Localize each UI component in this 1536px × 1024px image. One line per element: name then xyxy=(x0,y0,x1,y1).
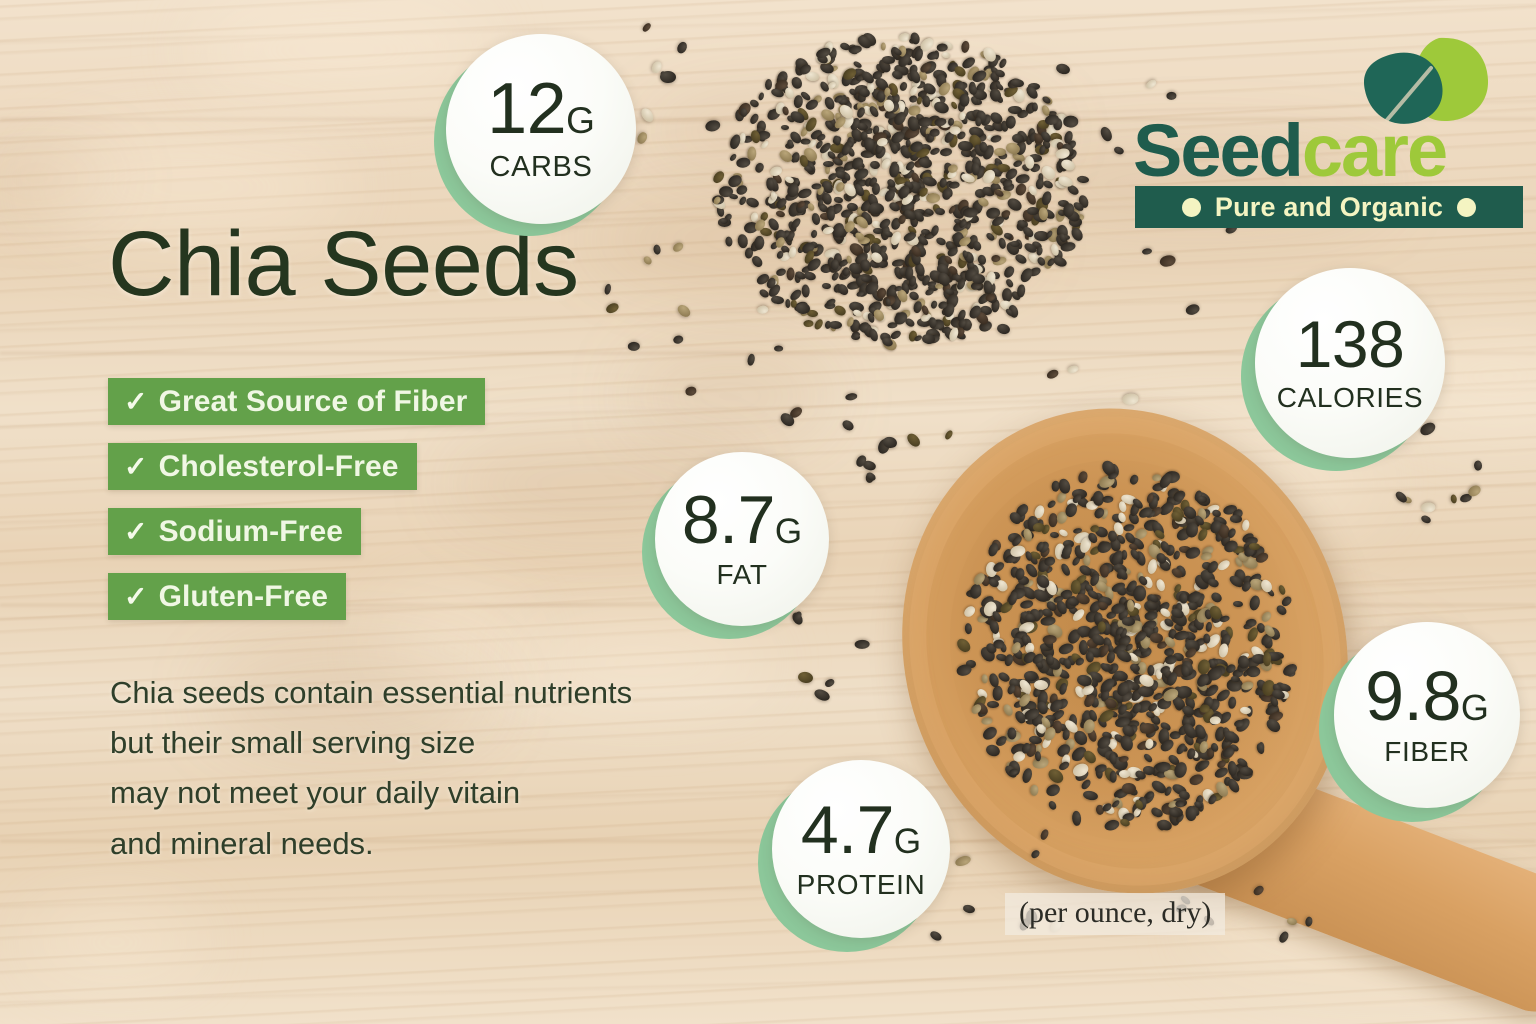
badge-label: FIBER xyxy=(1384,736,1469,768)
body-paragraph: Chia seeds contain essential nutrients b… xyxy=(110,668,810,869)
chia-seed xyxy=(1175,799,1184,806)
badge-unit: G xyxy=(775,515,802,549)
chia-seed xyxy=(725,236,733,247)
badge-value-wrap: 138 xyxy=(1296,312,1405,377)
chia-seed xyxy=(972,274,985,284)
chia-seed xyxy=(784,299,790,308)
chia-seed xyxy=(1262,652,1271,666)
chia-seed xyxy=(959,93,970,106)
badge-disc: 12GCARBS xyxy=(446,34,636,224)
chia-seed xyxy=(851,332,859,338)
nutrient-badge-fat: 8.7GFAT xyxy=(655,452,829,626)
chia-seed xyxy=(861,276,871,283)
body-line-3: may not meet your daily vitain xyxy=(110,768,810,818)
badge-unit: G xyxy=(1461,690,1489,725)
badge-label: CARBS xyxy=(490,151,593,184)
chia-seed xyxy=(1030,785,1039,796)
benefit-row: ✓Cholesterol-Free xyxy=(108,443,485,508)
badge-label: FAT xyxy=(716,559,767,591)
badge-value: 9.8 xyxy=(1365,662,1461,731)
chia-seed xyxy=(822,282,831,289)
check-icon: ✓ xyxy=(124,583,148,611)
check-icon: ✓ xyxy=(124,388,148,416)
benefit-label: Sodium-Free xyxy=(159,515,343,549)
benefits-list: ✓Great Source of Fiber✓Cholesterol-Free✓… xyxy=(108,378,485,638)
benefit-row: ✓Gluten-Free xyxy=(108,573,485,638)
badge-value: 4.7 xyxy=(801,797,894,864)
check-icon: ✓ xyxy=(124,453,148,481)
badge-value-wrap: 9.8G xyxy=(1365,662,1489,731)
brand-wordmark: Seedcare xyxy=(1133,114,1446,188)
chia-seed xyxy=(981,674,988,684)
chia-seed xyxy=(1248,542,1260,550)
benefit-label: Gluten-Free xyxy=(159,580,328,614)
chia-seed xyxy=(1109,771,1117,783)
benefit-item-1: ✓Cholesterol-Free xyxy=(108,443,417,490)
benefit-item-0: ✓Great Source of Fiber xyxy=(108,378,485,425)
serving-size-caption: (per ounce, dry) xyxy=(1005,893,1225,935)
badge-unit: G xyxy=(566,103,595,139)
brand-tagline-banner: Pure and Organic xyxy=(1135,186,1523,228)
chia-seed xyxy=(1071,580,1081,594)
badge-disc: 138CALORIES xyxy=(1255,268,1445,458)
badge-value: 12 xyxy=(487,74,566,145)
chia-seed xyxy=(1147,664,1154,675)
benefit-row: ✓Sodium-Free xyxy=(108,508,485,573)
infographic-canvas: Chia Seeds ✓Great Source of Fiber✓Choles… xyxy=(0,0,1536,1024)
badge-unit: G xyxy=(894,825,921,859)
badge-disc: 8.7GFAT xyxy=(655,452,829,626)
chia-seed xyxy=(770,191,776,200)
chia-seed xyxy=(926,192,940,203)
chia-seed xyxy=(1034,751,1041,761)
chia-seed xyxy=(1177,686,1192,698)
dot-icon-right xyxy=(1457,198,1476,217)
wood-blotch xyxy=(195,0,484,106)
chia-seed xyxy=(1009,240,1019,246)
badge-value-wrap: 4.7G xyxy=(801,797,921,864)
brand-tagline: Pure and Organic xyxy=(1215,192,1443,223)
chia-seed xyxy=(1100,564,1109,578)
chia-seed xyxy=(920,229,929,235)
chia-seed xyxy=(1180,665,1189,678)
chia-seed xyxy=(1063,115,1079,127)
badge-value: 8.7 xyxy=(682,487,775,554)
chia-seed xyxy=(1121,782,1136,794)
badge-disc: 4.7GPROTEIN xyxy=(772,760,950,938)
chia-seed xyxy=(1143,765,1156,775)
chia-seed xyxy=(1245,666,1260,678)
nutrient-badge-calories: 138CALORIES xyxy=(1255,268,1445,458)
brand-name-part2: care xyxy=(1302,109,1446,192)
chia-seed xyxy=(1102,495,1114,502)
chia-seed xyxy=(823,161,834,167)
badge-label: PROTEIN xyxy=(797,869,926,901)
body-line-2: but their small serving size xyxy=(110,718,810,768)
body-line-1: Chia seeds contain essential nutrients xyxy=(110,668,810,718)
chia-seed xyxy=(880,42,885,50)
chia-seed xyxy=(962,207,978,218)
chia-seed xyxy=(1150,632,1163,643)
badge-value-wrap: 8.7G xyxy=(682,487,802,554)
badge-disc: 9.8GFIBER xyxy=(1334,622,1520,808)
nutrient-badge-fiber: 9.8GFIBER xyxy=(1334,622,1520,808)
benefit-item-3: ✓Gluten-Free xyxy=(108,573,346,620)
benefit-item-2: ✓Sodium-Free xyxy=(108,508,361,555)
wood-blotch xyxy=(30,907,200,978)
badge-label: CALORIES xyxy=(1277,382,1423,414)
chia-seed xyxy=(937,44,948,52)
chia-seed xyxy=(1008,105,1022,114)
badge-value: 138 xyxy=(1296,312,1405,377)
chia-seed xyxy=(950,126,961,135)
body-line-4: and mineral needs. xyxy=(110,819,810,869)
chia-seed xyxy=(1027,207,1039,215)
benefit-row: ✓Great Source of Fiber xyxy=(108,378,485,443)
brand-name-part1: Seed xyxy=(1133,109,1302,192)
check-icon: ✓ xyxy=(124,518,148,546)
nutrient-badge-protein: 4.7GPROTEIN xyxy=(772,760,950,938)
chia-seed xyxy=(1140,723,1156,735)
dot-icon-left xyxy=(1182,198,1201,217)
chia-seed xyxy=(796,302,810,313)
benefit-label: Cholesterol-Free xyxy=(159,450,399,484)
benefit-label: Great Source of Fiber xyxy=(159,385,468,419)
chia-seed xyxy=(827,209,835,221)
badge-value-wrap: 12G xyxy=(487,74,595,145)
wood-blotch xyxy=(626,344,835,448)
chia-seed xyxy=(1230,515,1242,523)
nutrient-badge-carbs: 12GCARBS xyxy=(446,34,636,224)
